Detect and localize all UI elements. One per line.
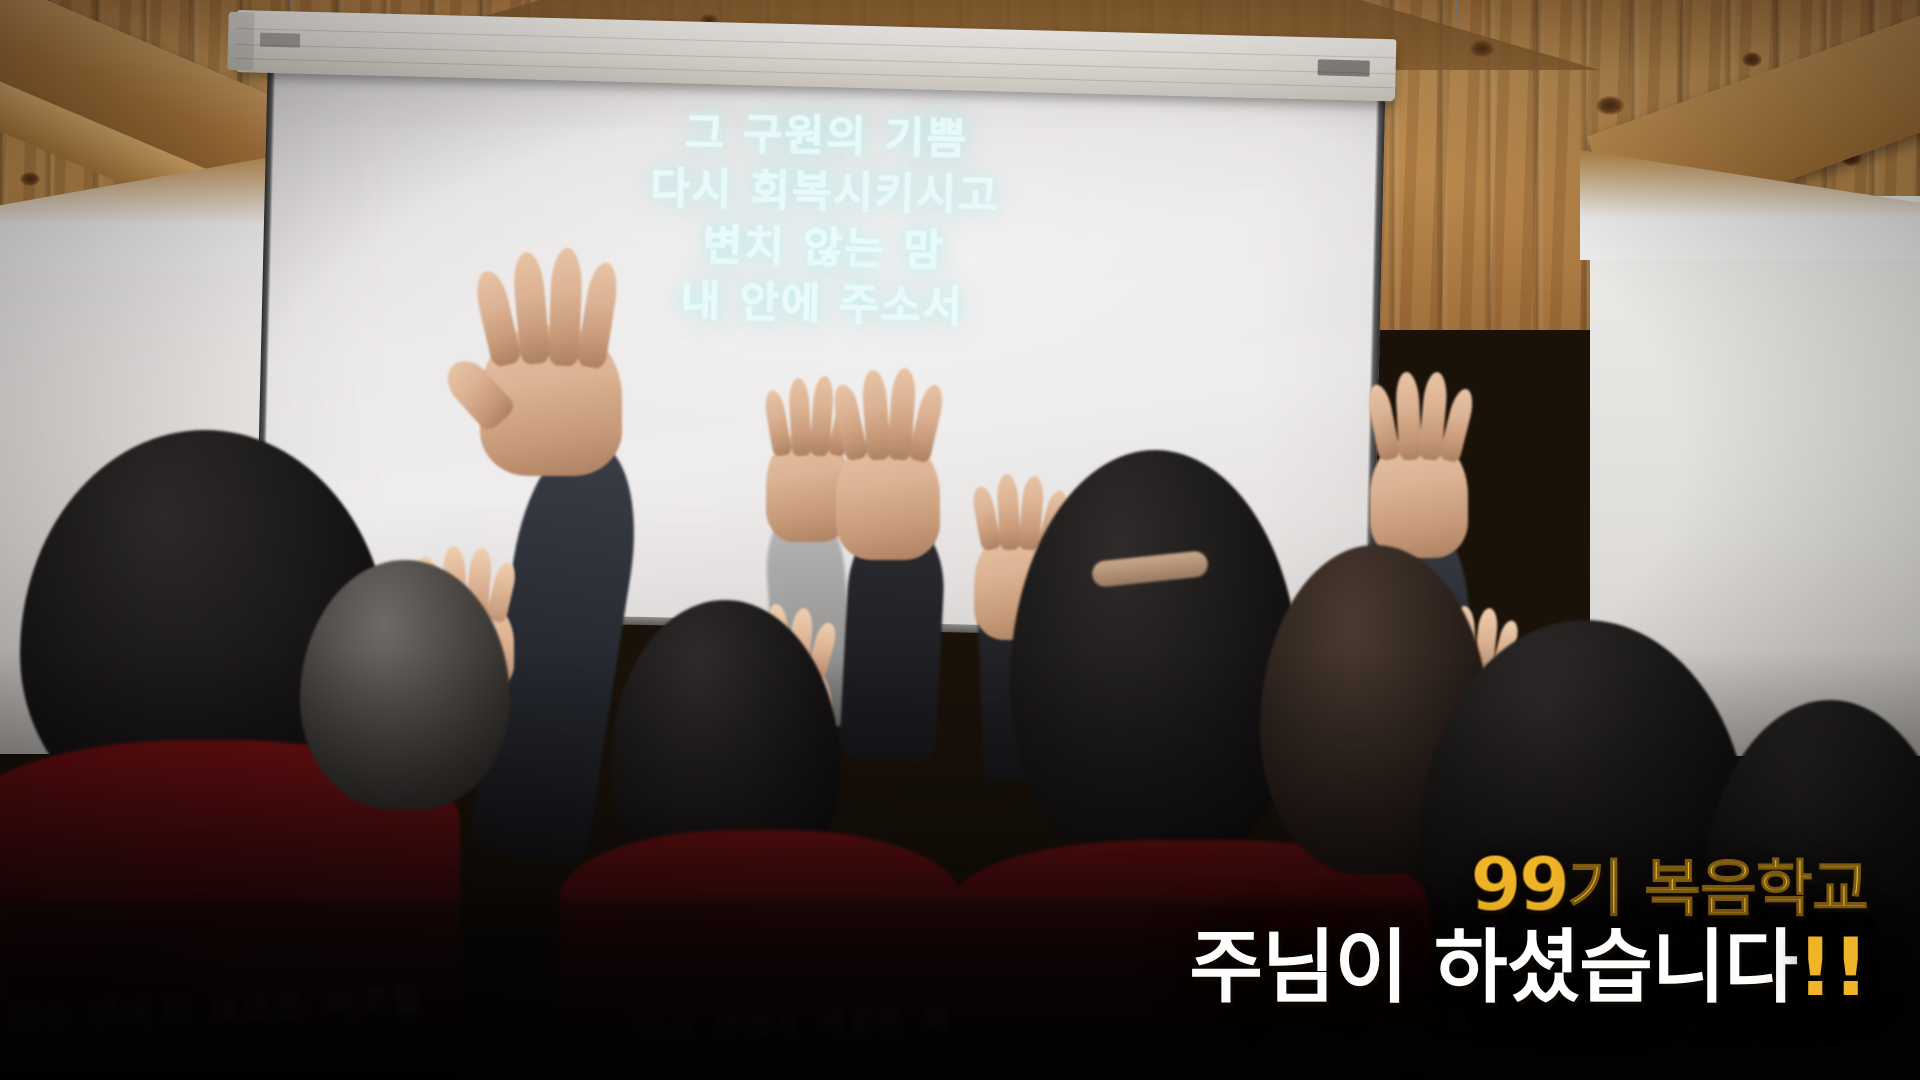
caption-overlay: 99기 복음학교 주님이 하셨습니다!! xyxy=(1189,848,1868,1008)
photo-scene: 그 구원의 기쁨 다시 회복시키시고 변치 않는 맘 내 안에 주소서 xyxy=(0,0,1920,1080)
caption-exclamation: !! xyxy=(1797,921,1868,1014)
caption-cohort-number: 99 xyxy=(1470,842,1567,928)
caption-headline: 주님이 하셨습니다 xyxy=(1189,921,1797,1014)
caption-line-1: 99기 복음학교 xyxy=(1189,848,1868,922)
caption-cohort-label: 기 복음학교 xyxy=(1567,852,1868,925)
caption-line-2: 주님이 하셨습니다!! xyxy=(1189,928,1868,1008)
